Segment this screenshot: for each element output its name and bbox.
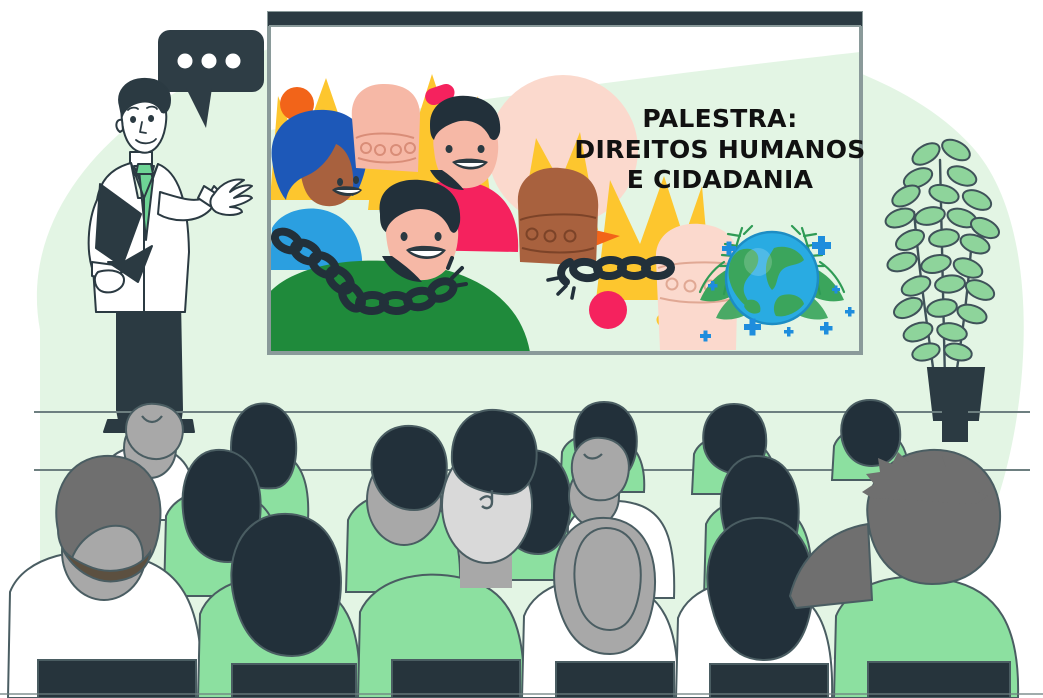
fist-dark-right [518,168,598,266]
illustration-canvas: PALESTRA: DIREITOS HUMANOS E CIDADANIA [0,0,1043,698]
presentation-board[interactable] [268,12,862,354]
fist-light-upper [352,84,420,172]
speech-dot-1 [178,54,193,69]
back-dark-object [942,400,968,442]
pink-circle [589,291,627,329]
scene-svg [0,0,1043,698]
speech-dot-3 [226,54,241,69]
speech-dot-2 [202,54,217,69]
speaker-hand-left [95,270,124,292]
board-top-bar [268,12,862,26]
